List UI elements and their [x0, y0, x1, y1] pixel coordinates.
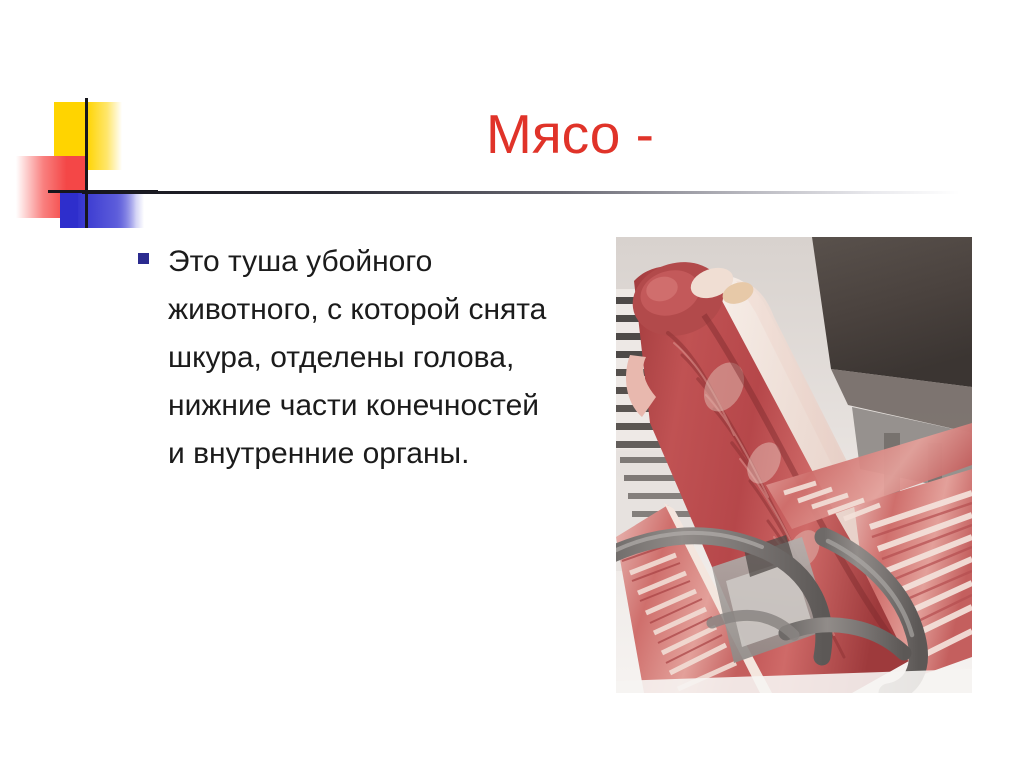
slide-body: Это туша убойного животного, с которой с…	[138, 238, 558, 478]
list-item: Это туша убойного животного, с которой с…	[138, 238, 558, 478]
slide-title: Мясо -	[180, 106, 960, 164]
vertical-rule-icon	[85, 98, 88, 228]
title-underline-rule	[82, 191, 960, 194]
bullet-square-icon	[138, 253, 149, 264]
bullet-text: Это туша убойного животного, с которой с…	[168, 238, 558, 478]
presentation-slide: Мясо - Это туша убойного животного, с ко…	[0, 0, 1024, 767]
design-accent-mark	[14, 96, 164, 228]
meat-carcass-photo	[616, 237, 972, 693]
photo-artwork	[616, 237, 972, 693]
